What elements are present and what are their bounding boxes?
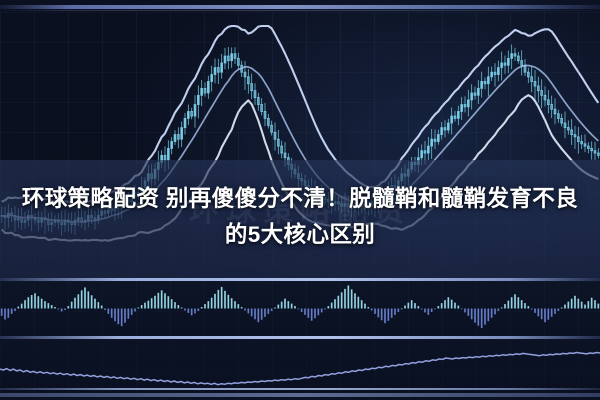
stock-chart-banner: 环球策略配资 环球策略配资 别再傻傻分不清！脱髓鞘和髓鞘发育不良的5大核心区别	[0, 0, 600, 400]
bottom-bar	[0, 393, 600, 397]
histogram-chart-svg	[0, 281, 600, 336]
top-divider-line	[0, 5, 600, 9]
panel-divider-3	[0, 388, 600, 390]
oscillator-histogram-panel	[0, 281, 600, 336]
panel-divider-2	[0, 336, 600, 339]
page-title: 环球策略配资 别再傻傻分不清！脱髓鞘和髓鞘发育不良的5大核心区别	[0, 181, 600, 253]
top-divider-line-secondary	[0, 10, 600, 11]
